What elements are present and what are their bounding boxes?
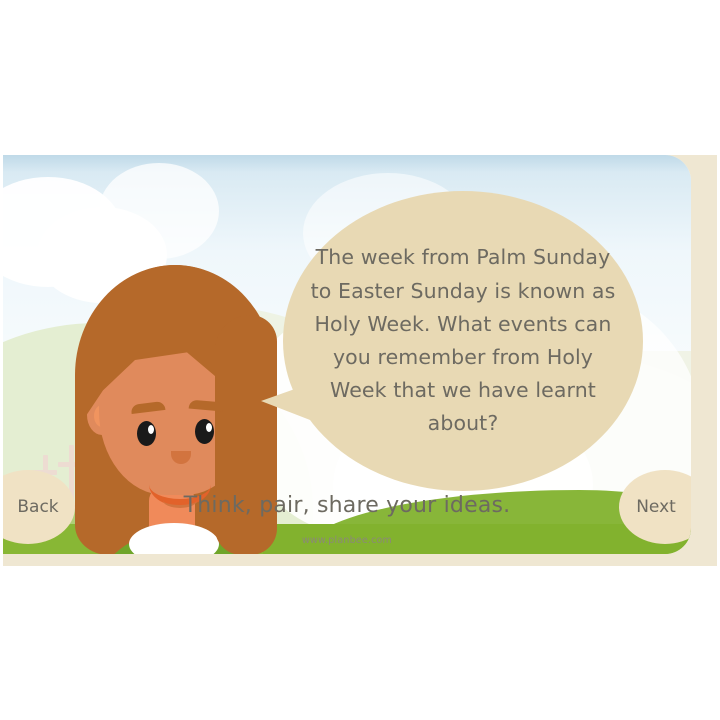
slide-content-card: The week from Palm Sunday to Easter Sund… (3, 155, 691, 554)
caption-text: Think, pair, share your ideas. (3, 493, 691, 518)
cloud-icon (99, 163, 219, 259)
screenshot-root: The week from Palm Sunday to Easter Sund… (0, 0, 720, 720)
speech-bubble-text: The week from Palm Sunday to Easter Sund… (309, 241, 617, 440)
back-button-label: Back (17, 497, 58, 517)
speech-bubble: The week from Palm Sunday to Easter Sund… (283, 191, 643, 491)
eye-left (137, 421, 156, 446)
hair-side (215, 315, 277, 554)
slide-underlay: The week from Palm Sunday to Easter Sund… (3, 155, 717, 566)
eye-right (195, 419, 214, 444)
website-url: www.planbee.com (3, 535, 691, 546)
next-button-label: Next (636, 497, 676, 517)
slide-frame: The week from Palm Sunday to Easter Sund… (3, 155, 717, 566)
